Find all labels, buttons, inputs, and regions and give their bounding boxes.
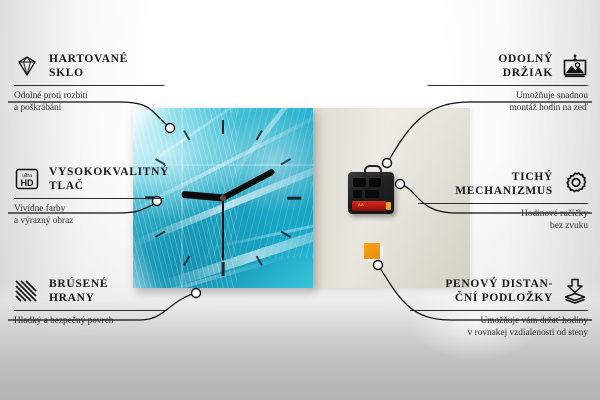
feature-divider <box>14 85 164 86</box>
mechanism-detail <box>365 190 379 198</box>
feature-desc-line2: a poškrábání <box>14 103 61 113</box>
feature-title-line1: TICHÝ <box>512 171 553 183</box>
svg-text:HD: HD <box>21 178 34 188</box>
feature-divider <box>418 203 588 204</box>
feature-desc-line2: v rovnakej vzdialenosti od steny <box>468 328 588 338</box>
feature-desc-line1: Umožňuje vám držať hodiny <box>481 316 589 326</box>
clock-tick <box>222 120 225 134</box>
feature-title-line1: BRÚSENÉ <box>49 278 108 290</box>
battery-terminal <box>386 202 391 210</box>
battery: AA <box>352 201 386 211</box>
feature-title-line1: PENOVÝ DISTAN- <box>445 278 553 290</box>
gear-icon <box>562 171 588 197</box>
diamond-icon <box>14 53 40 79</box>
feature-desc-line1: Umožňuje snadnou <box>516 91 588 101</box>
infographic-stage: AA <box>0 0 600 400</box>
feature-desc-line2: montáž hodin na zeď <box>509 103 588 113</box>
mechanism-hook <box>364 165 382 177</box>
feature-title-line2: DRŽIAK <box>503 67 553 79</box>
feature-desc-line1: Vivídne farby <box>14 204 65 214</box>
feature-desc-line2: a výrazný obraz <box>14 216 73 226</box>
ultra-hd-icon: ultra HD <box>14 166 40 192</box>
feature-title-line2: HRANY <box>49 292 95 304</box>
feature-durable-hanger[interactable]: ODOLNÝ DRŽIAK Umožňuje snadnou montáž ho… <box>428 52 588 114</box>
mechanism-detail <box>353 178 366 187</box>
clock-mechanism: AA <box>348 172 394 214</box>
feature-desc-line1: Hladký a bezpečný povrch <box>14 316 113 326</box>
feature-divider <box>410 310 588 311</box>
battery-label: AA <box>358 202 364 207</box>
mechanism-detail <box>353 190 362 198</box>
feature-desc-line1: Odolné proti rozbití <box>14 91 88 101</box>
feature-title-line2: TLAČ <box>49 180 84 192</box>
feature-title-line2: ČNÍ PODLOŽKY <box>455 292 553 304</box>
feature-divider <box>14 310 166 311</box>
clock-center-cap <box>220 195 226 201</box>
feature-silent-mechanism[interactable]: TICHÝ MECHANIZMUS Hodinové ručičky bez z… <box>418 170 588 232</box>
feature-divider <box>14 198 164 199</box>
clock-tick <box>287 197 301 200</box>
feature-foam-spacers[interactable]: PENOVÝ DISTAN- ČNÍ PODLOŽKY Umožňuje vám… <box>410 277 588 339</box>
feature-title-line1: HARTOVANÉ <box>49 53 128 65</box>
stacked-arrow-down-icon <box>562 278 588 304</box>
feature-polished-edges[interactable]: BRÚSENÉ HRANY Hladký a bezpečný povrch <box>14 277 166 328</box>
feature-desc-line2: bez zvuku <box>550 221 588 231</box>
feature-title-line1: ODOLNÝ <box>498 53 553 65</box>
picture-frame-icon <box>562 53 588 79</box>
clock-tick <box>222 262 225 276</box>
feature-title-line2: MECHANIZMUS <box>455 185 553 197</box>
feature-title-line2: SKLO <box>49 67 84 79</box>
feature-desc-line1: Hodinové ručičky <box>521 209 588 219</box>
clock-second-hand <box>222 198 224 260</box>
feature-title-line1: VYSOKOKVALITNÝ <box>49 166 169 178</box>
feature-divider <box>428 85 588 86</box>
diagonal-lines-icon <box>14 278 40 304</box>
mechanism-detail <box>369 178 381 187</box>
foam-spacer-pad <box>364 243 380 259</box>
feature-high-quality-print[interactable]: ultra HD VYSOKOKVALITNÝ TLAČ Vivídne far… <box>14 165 164 227</box>
feature-hardened-glass[interactable]: HARTOVANÉ SKLO Odolné proti rozbití a po… <box>14 52 164 114</box>
